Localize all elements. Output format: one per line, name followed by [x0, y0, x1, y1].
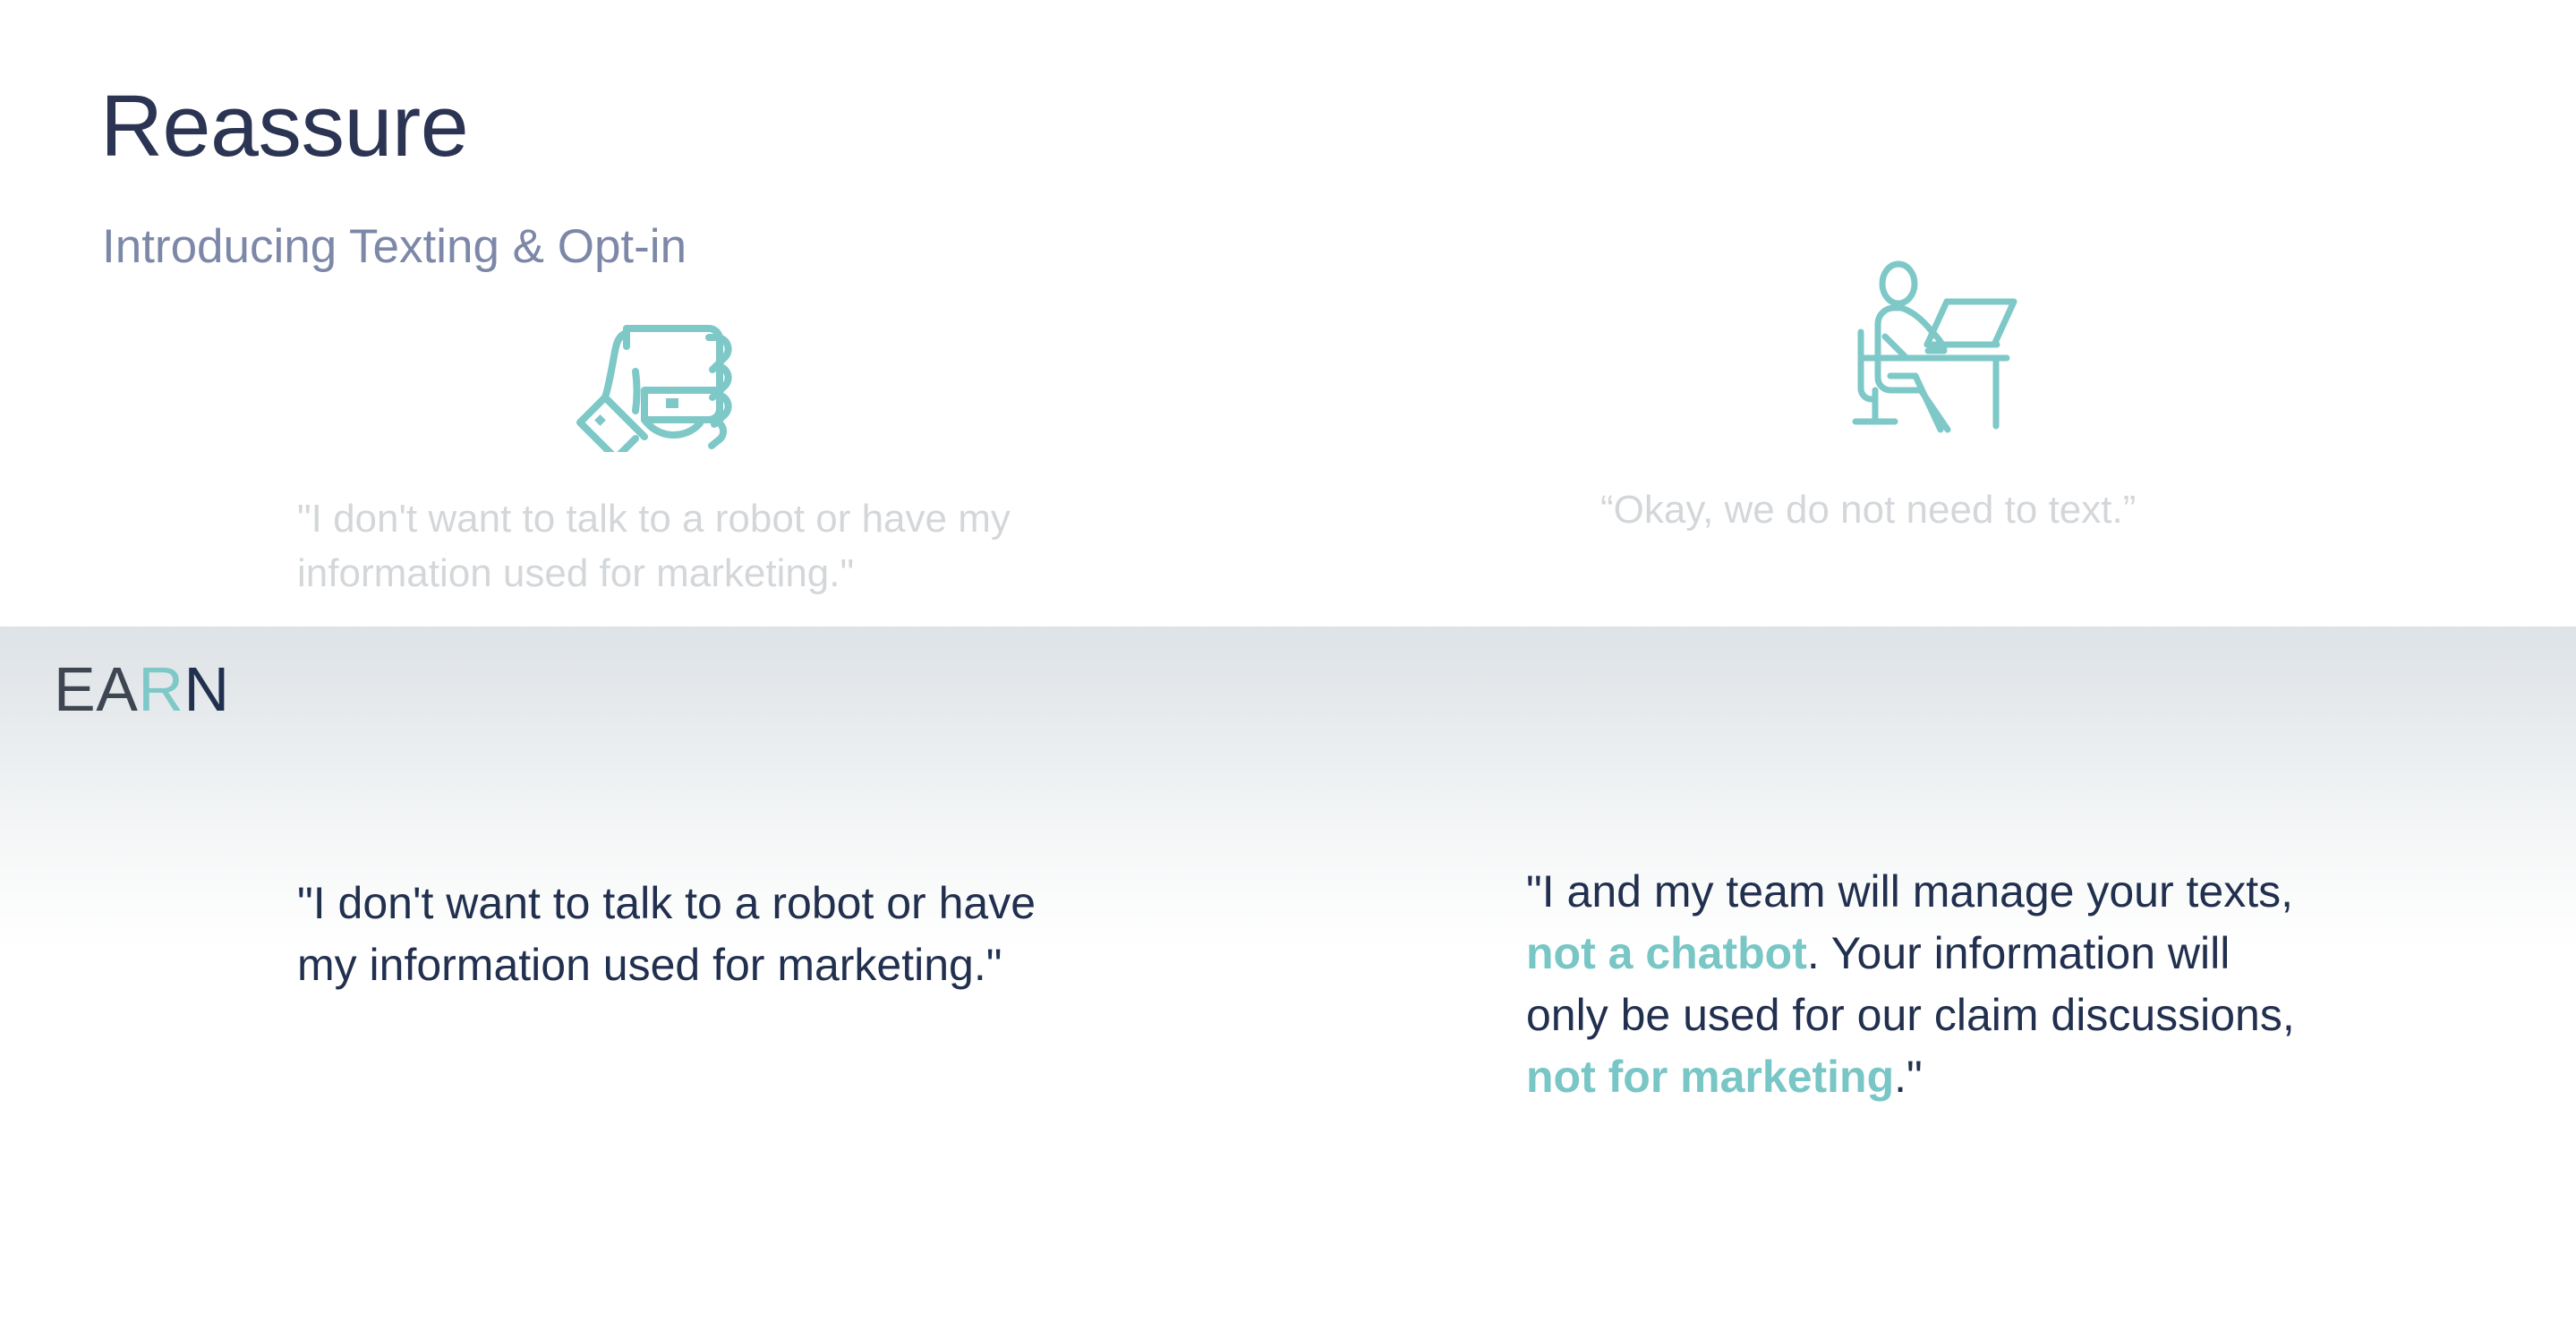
page-title: Reassure	[100, 81, 468, 172]
earn-segment-ea: EA	[54, 654, 138, 724]
hand-holding-phone-icon	[566, 273, 745, 456]
quote-response-highlight-1: not a chatbot	[1526, 928, 1807, 978]
quote-response-right: "I and my team will manage your texts, n…	[1526, 861, 2318, 1108]
slide-canvas: Reassure Introducing Texting & Opt-in	[0, 0, 2576, 1330]
ghost-quote-right: “Okay, we do not need to text.”	[1600, 483, 2406, 538]
earn-segment-n: N	[183, 654, 229, 724]
quote-objection-left: "I don't want to talk to a robot or have…	[297, 873, 1067, 996]
quote-response-part-3: ."	[1894, 1052, 1923, 1102]
quote-response-part-1: "I and my team will manage your texts,	[1526, 866, 2293, 917]
ghost-quote-left: "I don't want to talk to a robot or have…	[297, 492, 1103, 601]
section-label-earn: EARN	[54, 658, 230, 720]
earn-segment-r: R	[138, 654, 183, 724]
person-at-desk-laptop-icon	[1842, 260, 2021, 443]
page-subtitle: Introducing Texting & Opt-in	[102, 221, 687, 273]
quote-response-highlight-2: not for marketing	[1526, 1052, 1894, 1102]
top-section: Reassure Introducing Texting & Opt-in	[0, 0, 2576, 627]
